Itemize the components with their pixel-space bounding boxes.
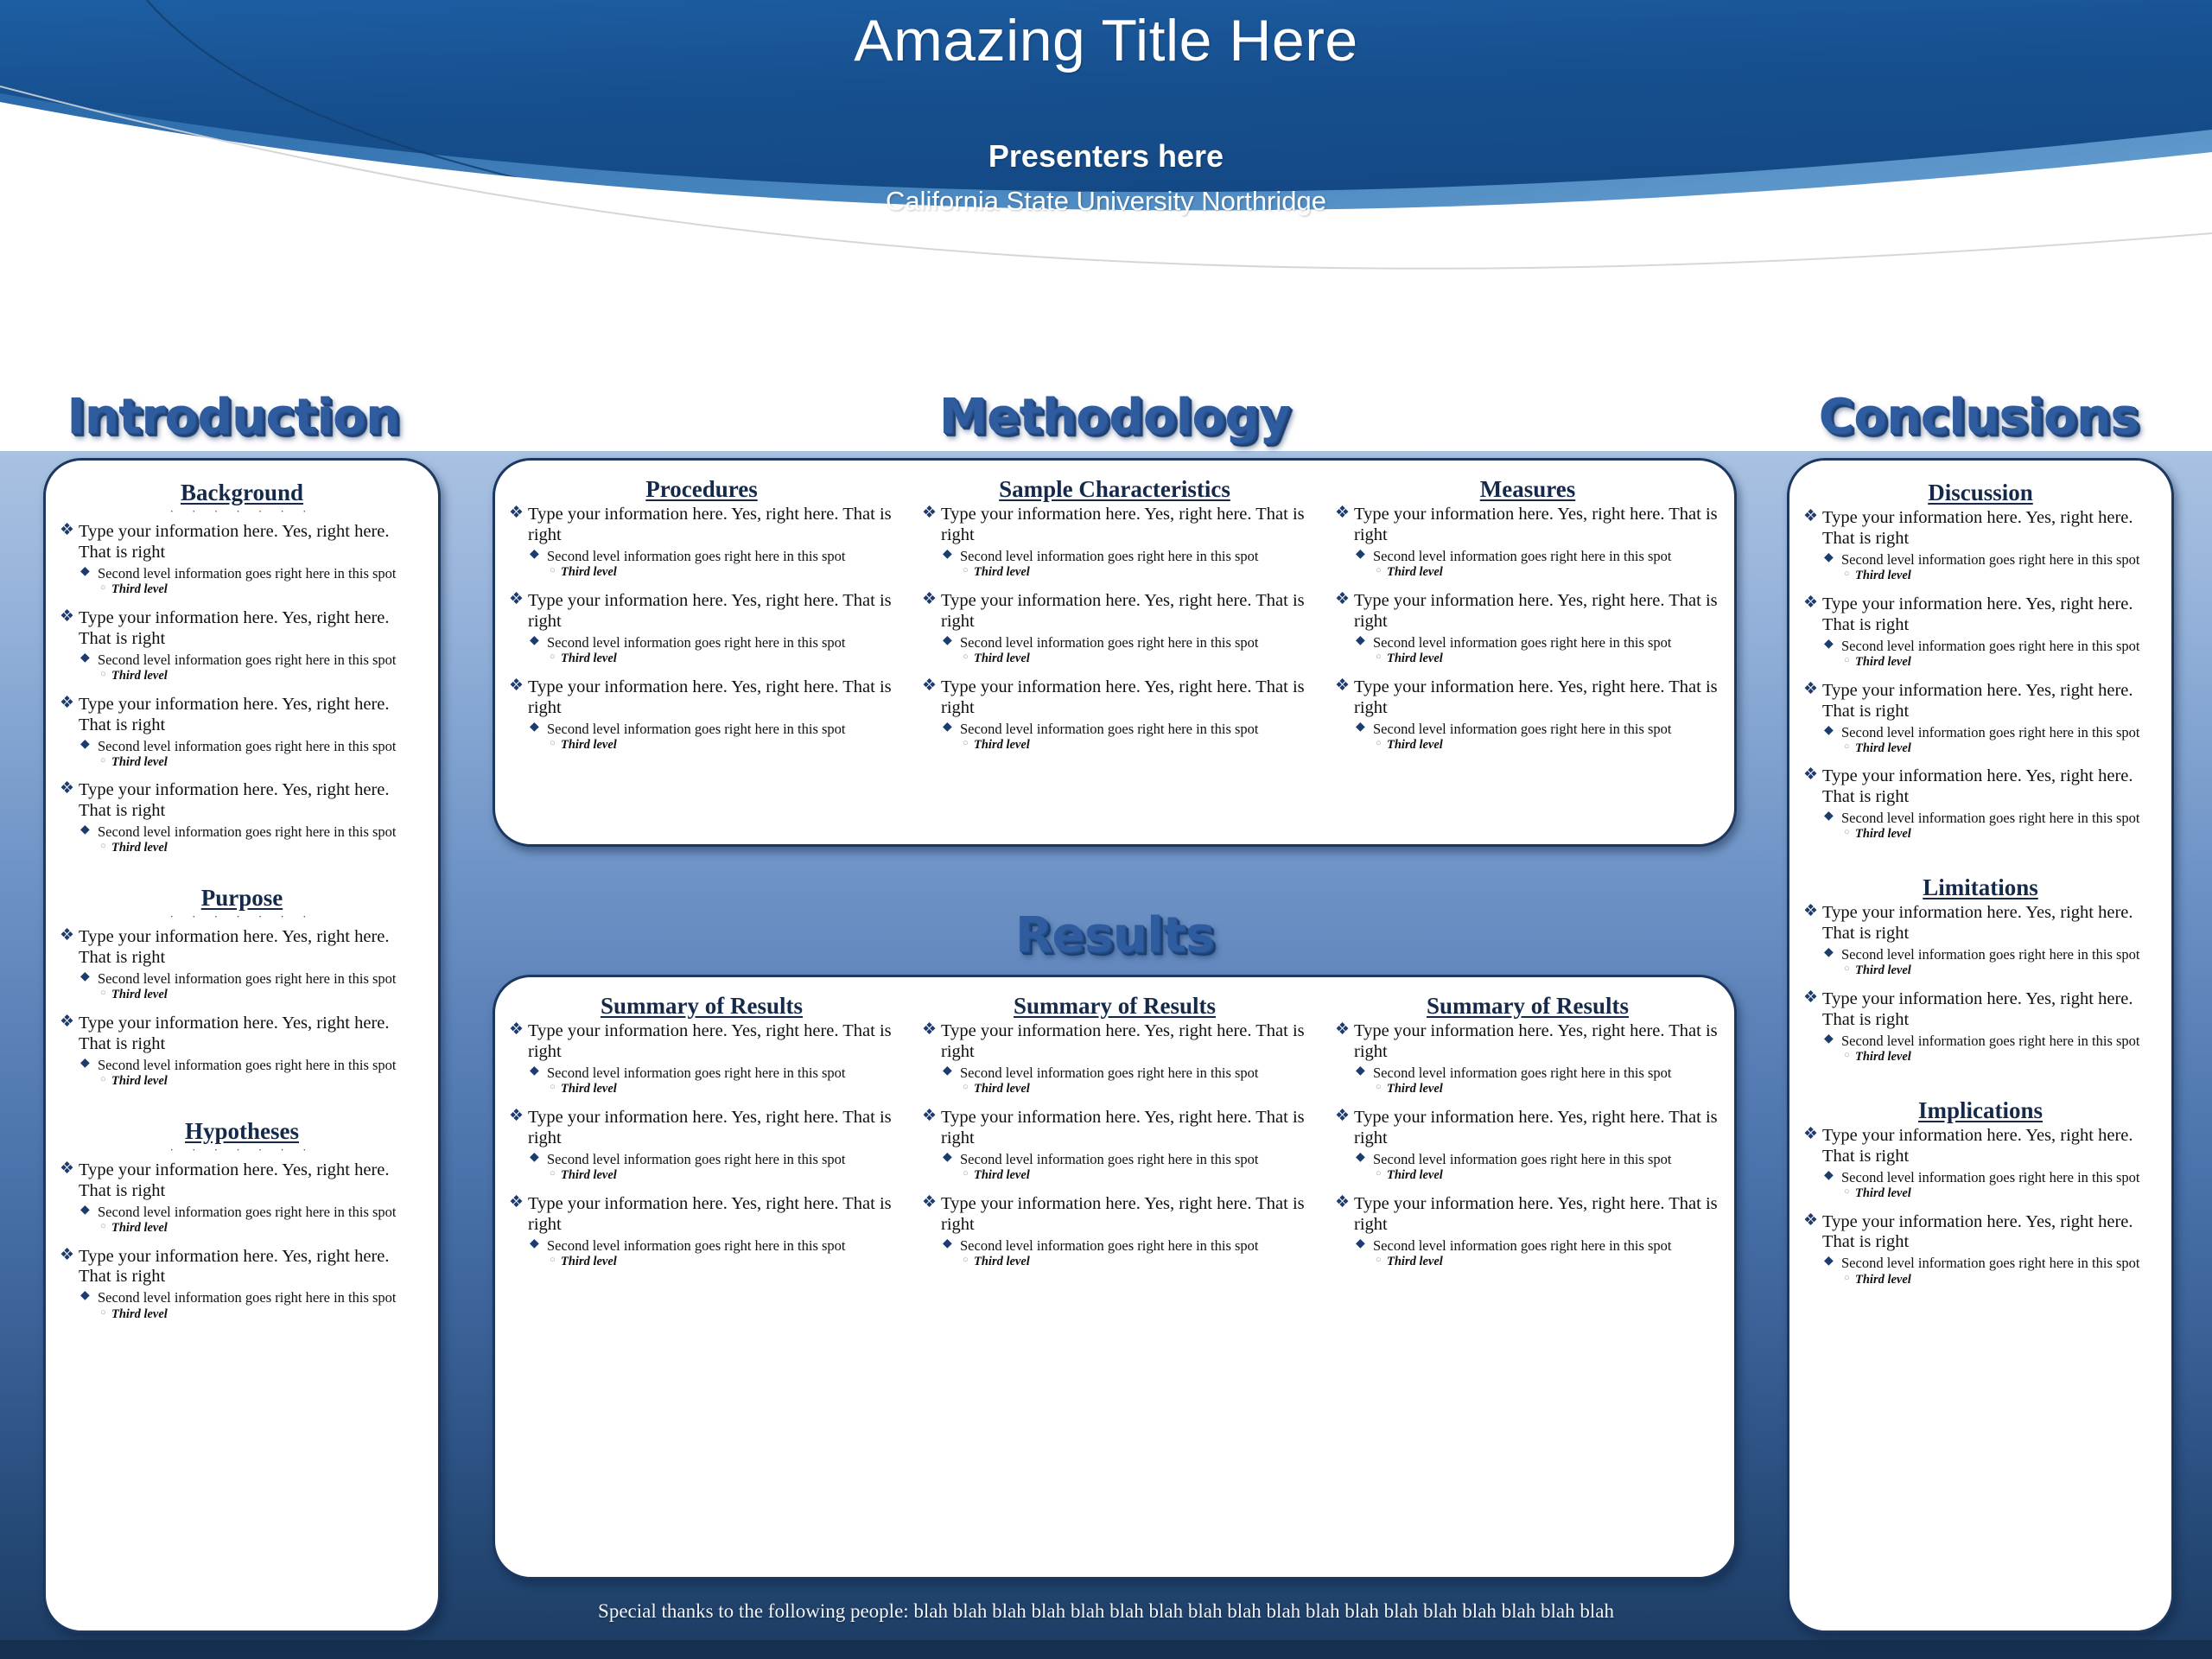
bullet-glyph-level-1: ❖ [1803, 507, 1818, 527]
bullet-level-1: ❖Type your information here. Yes, right … [509, 591, 894, 632]
bullet-level-1: ❖Type your information here. Yes, right … [922, 591, 1307, 632]
bullet-level-3-text: Third level [1855, 655, 1911, 669]
bullet-level-2: ◆Second level information goes right her… [1335, 634, 1720, 651]
bullet-level-3: ○Third level [1335, 1255, 1720, 1269]
bullet-glyph-level-2: ◆ [530, 1237, 539, 1251]
bullet-glyph-level-3: ○ [1844, 1273, 1850, 1284]
bullet-group-results-3: ❖Type your information here. Yes, right … [1335, 1021, 1720, 1268]
bullet-level-1-text: Type your information here. Yes, right h… [1354, 1108, 1718, 1147]
bullet-level-1: ❖Type your information here. Yes, right … [60, 1014, 424, 1055]
bullet-glyph-level-1: ❖ [1335, 677, 1350, 696]
bullet-glyph-level-2: ◆ [80, 970, 90, 984]
bullet-block: ❖Type your information here. Yes, right … [1335, 1021, 1720, 1096]
bullet-level-1-text: Type your information here. Yes, right h… [1822, 989, 2133, 1029]
bullet-level-3-text: Third level [111, 1221, 168, 1235]
bullet-level-3: ○Third level [1335, 565, 1720, 580]
bullet-level-1-text: Type your information here. Yes, right h… [79, 1247, 390, 1287]
bullet-level-1: ❖Type your information here. Yes, right … [60, 608, 424, 650]
bullet-level-3: ○Third level [60, 1307, 424, 1322]
bullet-level-1-text: Type your information here. Yes, right h… [528, 1021, 892, 1061]
bullet-level-1: ❖Type your information here. Yes, right … [1803, 903, 2158, 944]
bullet-glyph-level-2: ◆ [80, 1204, 90, 1217]
bullet-level-3-text: Third level [1855, 569, 1911, 582]
bullet-block: ❖Type your information here. Yes, right … [509, 1108, 894, 1183]
bullet-level-3: ○Third level [509, 652, 894, 666]
bullet-glyph-level-3: ○ [100, 755, 106, 766]
bullet-glyph-level-1: ❖ [60, 1246, 74, 1266]
bullet-level-1-text: Type your information here. Yes, right h… [1354, 591, 1718, 631]
bullet-level-3-text: Third level [1387, 1082, 1443, 1096]
bullet-level-1-text: Type your information here. Yes, right h… [1822, 1212, 2133, 1252]
bullet-level-3: ○Third level [1803, 1273, 2158, 1287]
bullet-glyph-level-3: ○ [550, 1255, 556, 1266]
bullet-block: ❖Type your information here. Yes, right … [509, 677, 894, 753]
bullet-level-3: ○Third level [60, 669, 424, 683]
bullet-level-1-text: Type your information here. Yes, right h… [79, 927, 390, 967]
page-title: Amazing Title Here [0, 9, 2212, 73]
bullet-level-2-text: Second level information goes right here… [1373, 548, 1672, 564]
bullet-level-1: ❖Type your information here. Yes, right … [1335, 1108, 1720, 1149]
bullet-glyph-level-3: ○ [550, 1168, 556, 1179]
procedures-column: Procedures ❖Type your information here. … [495, 461, 908, 844]
bullet-level-2-text: Second level information goes right here… [1373, 721, 1672, 737]
bullet-level-1: ❖Type your information here. Yes, right … [1803, 1212, 2158, 1254]
bullet-level-1: ❖Type your information here. Yes, right … [1803, 989, 2158, 1031]
bullet-glyph-level-2: ◆ [1824, 724, 1834, 738]
bullet-level-3: ○Third level [1803, 1186, 2158, 1201]
subheading-limitations: Limitations [1803, 874, 2158, 901]
bullet-level-1-text: Type your information here. Yes, right h… [528, 505, 892, 544]
bullet-block: ❖Type your information here. Yes, right … [1335, 677, 1720, 753]
bullet-level-2: ◆Second level information goes right her… [1803, 810, 2158, 826]
bullet-glyph-level-1: ❖ [1335, 504, 1350, 524]
bullet-group-sample-characteristics: ❖Type your information here. Yes, right … [922, 505, 1307, 752]
bullet-level-1: ❖Type your information here. Yes, right … [60, 1160, 424, 1202]
bullet-glyph-level-3: ○ [1844, 655, 1850, 666]
bullet-level-3-text: Third level [111, 1074, 168, 1088]
bullet-level-2-text: Second level information goes right here… [98, 652, 397, 668]
subheading-summary-of-results-2: Summary of Results [922, 993, 1307, 1020]
bullet-level-1-text: Type your information here. Yes, right h… [79, 1014, 390, 1053]
bullet-level-1-text: Type your information here. Yes, right h… [941, 677, 1305, 717]
bullet-block: ❖Type your information here. Yes, right … [60, 608, 424, 683]
bullet-level-3: ○Third level [60, 1074, 424, 1089]
bullet-group-implications: ❖Type your information here. Yes, right … [1803, 1126, 2158, 1287]
subheading-purpose: Purpose [60, 885, 424, 912]
bullet-level-2: ◆Second level information goes right her… [60, 1057, 424, 1073]
bullet-level-1: ❖Type your information here. Yes, right … [509, 505, 894, 546]
bullet-level-3-text: Third level [561, 652, 617, 665]
bullet-level-2: ◆Second level information goes right her… [922, 1151, 1307, 1167]
bullet-level-3: ○Third level [509, 1082, 894, 1096]
bullet-level-1: ❖Type your information here. Yes, right … [1803, 508, 2158, 550]
bullet-level-2-text: Second level information goes right here… [98, 565, 397, 582]
bullet-block: ❖Type your information here. Yes, right … [1335, 591, 1720, 666]
bullet-glyph-level-1: ❖ [1335, 1193, 1350, 1213]
bullet-glyph-level-3: ○ [1376, 1255, 1382, 1266]
bullet-level-3: ○Third level [60, 582, 424, 597]
bullet-glyph-level-1: ❖ [509, 590, 524, 610]
bullet-glyph-level-3: ○ [1844, 963, 1850, 975]
bullet-level-2-text: Second level information goes right here… [1841, 638, 2140, 654]
bullet-level-2: ◆Second level information goes right her… [60, 738, 424, 754]
sample-characteristics-column: Sample Characteristics ❖Type your inform… [908, 461, 1321, 844]
bullet-level-2-text: Second level information goes right here… [960, 721, 1259, 737]
bullet-glyph-level-2: ◆ [1356, 1151, 1365, 1165]
bullet-glyph-level-3: ○ [100, 1074, 106, 1085]
bullet-level-1: ❖Type your information here. Yes, right … [60, 780, 424, 822]
bullet-glyph-level-1: ❖ [922, 1107, 937, 1127]
bullet-level-3: ○Third level [509, 1255, 894, 1269]
bullet-level-2-text: Second level information goes right here… [960, 634, 1259, 651]
bullet-level-2: ◆Second level information goes right her… [509, 1151, 894, 1167]
bullet-level-3-text: Third level [1855, 827, 1911, 841]
bullet-level-3-text: Third level [974, 1082, 1030, 1096]
bullet-level-1: ❖Type your information here. Yes, right … [922, 1108, 1307, 1149]
bullet-level-3-text: Third level [1387, 565, 1443, 579]
bullet-level-3-text: Third level [111, 755, 168, 769]
bullet-level-3-text: Third level [111, 988, 168, 1001]
introduction-column: Background · · · · · · · ❖Type your info… [46, 461, 438, 1630]
bullet-glyph-level-2: ◆ [530, 1065, 539, 1078]
bullet-glyph-level-1: ❖ [1803, 594, 1818, 613]
bullet-glyph-level-3: ○ [550, 565, 556, 576]
bullet-level-2: ◆Second level information goes right her… [509, 1237, 894, 1254]
bullet-block: ❖Type your information here. Yes, right … [60, 1160, 424, 1236]
subheading-discussion: Discussion [1803, 480, 2158, 506]
bullet-level-3: ○Third level [1803, 655, 2158, 670]
bullet-group-background: ❖Type your information here. Yes, right … [60, 522, 424, 855]
bullet-level-3: ○Third level [1335, 1168, 1720, 1183]
bullet-block: ❖Type your information here. Yes, right … [60, 1014, 424, 1089]
bullet-glyph-level-2: ◆ [1824, 810, 1834, 823]
bullet-glyph-level-2: ◆ [943, 1237, 952, 1251]
bullet-glyph-level-1: ❖ [60, 1013, 74, 1033]
bullet-glyph-level-2: ◆ [80, 1057, 90, 1071]
affiliation-line: California State University Northridge [0, 187, 2212, 216]
bullet-level-3-text: Third level [561, 1255, 617, 1268]
bullet-level-1: ❖Type your information here. Yes, right … [922, 1021, 1307, 1063]
bullet-glyph-level-2: ◆ [1824, 638, 1834, 652]
bullet-level-3: ○Third level [1803, 827, 2158, 842]
bullet-level-1: ❖Type your information here. Yes, right … [1335, 677, 1720, 719]
bullet-level-1-text: Type your information here. Yes, right h… [1822, 508, 2133, 548]
bullet-glyph-level-2: ◆ [80, 1289, 90, 1303]
bullet-level-2: ◆Second level information goes right her… [1803, 1033, 2158, 1049]
bullet-level-2: ◆Second level information goes right her… [509, 721, 894, 737]
bullet-level-2: ◆Second level information goes right her… [922, 634, 1307, 651]
bullet-group-hypotheses: ❖Type your information here. Yes, right … [60, 1160, 424, 1322]
bullet-level-2-text: Second level information goes right here… [98, 1289, 397, 1306]
bullet-level-3-text: Third level [1387, 1255, 1443, 1268]
bullet-level-3: ○Third level [1335, 1082, 1720, 1096]
bullet-level-1: ❖Type your information here. Yes, right … [1335, 591, 1720, 632]
bullet-glyph-level-3: ○ [963, 738, 969, 749]
bullet-glyph-level-2: ◆ [80, 652, 90, 665]
bullet-glyph-level-1: ❖ [60, 926, 74, 946]
bullet-glyph-level-1: ❖ [922, 1193, 937, 1213]
bullet-glyph-level-3: ○ [100, 988, 106, 999]
bullet-level-2-text: Second level information goes right here… [98, 823, 397, 840]
bullet-level-2: ◆Second level information goes right her… [1803, 551, 2158, 568]
bullet-level-1-text: Type your information here. Yes, right h… [528, 1108, 892, 1147]
bullet-level-3-text: Third level [111, 841, 168, 855]
bullet-glyph-level-1: ❖ [922, 1020, 937, 1040]
bullet-glyph-level-1: ❖ [1803, 680, 1818, 700]
bullet-glyph-level-3: ○ [963, 565, 969, 576]
bullet-group-measures: ❖Type your information here. Yes, right … [1335, 505, 1720, 752]
bullet-glyph-level-3: ○ [1376, 1168, 1382, 1179]
bullet-block: ❖Type your information here. Yes, right … [922, 505, 1307, 580]
bullet-level-2-text: Second level information goes right here… [547, 721, 846, 737]
summary-of-results-column-3: Summary of Results ❖Type your informatio… [1321, 977, 1734, 1577]
bullet-level-3: ○Third level [922, 565, 1307, 580]
bullet-block: ❖Type your information here. Yes, right … [509, 591, 894, 666]
bullet-level-2: ◆Second level information goes right her… [922, 1065, 1307, 1081]
bullet-level-1-text: Type your information here. Yes, right h… [528, 677, 892, 717]
bullet-level-3: ○Third level [1803, 963, 2158, 978]
bullet-block: ❖Type your information here. Yes, right … [1803, 766, 2158, 842]
bottom-strip [0, 1640, 2212, 1659]
bullet-glyph-level-3: ○ [1376, 652, 1382, 663]
bullet-level-3-text: Third level [1387, 738, 1443, 752]
bullet-level-1-text: Type your information here. Yes, right h… [941, 591, 1305, 631]
presenters-line: Presenters here [0, 139, 2212, 174]
bullet-glyph-level-1: ❖ [60, 779, 74, 799]
bullet-level-3-text: Third level [1387, 1168, 1443, 1182]
bullet-block: ❖Type your information here. Yes, right … [1335, 505, 1720, 580]
bullet-level-3: ○Third level [1803, 741, 2158, 756]
bullet-level-1: ❖Type your information here. Yes, right … [509, 1021, 894, 1063]
bullet-glyph-level-1: ❖ [509, 504, 524, 524]
bullet-level-2-text: Second level information goes right here… [960, 1151, 1259, 1167]
measures-column: Measures ❖Type your information here. Ye… [1321, 461, 1734, 844]
bullet-level-3-text: Third level [561, 738, 617, 752]
bullet-level-2-text: Second level information goes right here… [1841, 724, 2140, 741]
bullet-level-2: ◆Second level information goes right her… [922, 1237, 1307, 1254]
bullet-level-1-text: Type your information here. Yes, right h… [79, 1160, 390, 1200]
bullet-level-3-text: Third level [974, 652, 1030, 665]
bullet-glyph-level-3: ○ [1376, 565, 1382, 576]
bullet-level-1-text: Type your information here. Yes, right h… [1822, 766, 2133, 806]
bullet-level-2-text: Second level information goes right here… [1841, 1033, 2140, 1049]
conclusions-column: Discussion ❖Type your information here. … [1789, 461, 2171, 1630]
bullet-glyph-level-2: ◆ [80, 823, 90, 837]
bullet-block: ❖Type your information here. Yes, right … [60, 695, 424, 770]
decorative-dot-row: · · · · · · · [60, 913, 424, 924]
bullet-level-1-text: Type your information here. Yes, right h… [1822, 903, 2133, 943]
bullet-level-1-text: Type your information here. Yes, right h… [1354, 677, 1718, 717]
bullet-level-1-text: Type your information here. Yes, right h… [1354, 505, 1718, 544]
bullet-block: ❖Type your information here. Yes, right … [60, 1247, 424, 1322]
bullet-glyph-level-2: ◆ [1356, 1065, 1365, 1078]
bullet-level-1-text: Type your information here. Yes, right h… [79, 780, 390, 820]
bullet-level-1-text: Type your information here. Yes, right h… [528, 1194, 892, 1234]
bullet-level-3-text: Third level [561, 1168, 617, 1182]
bullet-glyph-level-2: ◆ [1356, 1237, 1365, 1251]
bullet-level-2-text: Second level information goes right here… [98, 1057, 397, 1073]
bullet-block: ❖Type your information here. Yes, right … [509, 1194, 894, 1269]
bullet-level-3-text: Third level [974, 565, 1030, 579]
bullet-level-3-text: Third level [561, 1082, 617, 1096]
bullet-level-3: ○Third level [509, 565, 894, 580]
bullet-glyph-level-3: ○ [1844, 1186, 1850, 1198]
bullet-group-purpose: ❖Type your information here. Yes, right … [60, 927, 424, 1089]
bullet-glyph-level-3: ○ [1844, 1050, 1850, 1061]
bullet-level-2: ◆Second level information goes right her… [60, 1204, 424, 1220]
bullet-level-1: ❖Type your information here. Yes, right … [1803, 766, 2158, 808]
bullet-level-1: ❖Type your information here. Yes, right … [922, 677, 1307, 719]
bullet-level-3-text: Third level [974, 738, 1030, 752]
bullet-level-2-text: Second level information goes right here… [1841, 551, 2140, 568]
header-text-group: Amazing Title Here Presenters here Calif… [0, 0, 2212, 216]
bullet-level-2: ◆Second level information goes right her… [1335, 548, 1720, 564]
bullet-level-2: ◆Second level information goes right her… [1803, 724, 2158, 741]
bullet-level-3-text: Third level [111, 1307, 168, 1321]
section-heading-results: Results [493, 907, 1737, 963]
bullet-glyph-level-3: ○ [1844, 741, 1850, 753]
bullet-glyph-level-1: ❖ [60, 607, 74, 627]
bullet-glyph-level-3: ○ [963, 1168, 969, 1179]
bullet-level-3: ○Third level [509, 738, 894, 753]
bullet-level-1: ❖Type your information here. Yes, right … [509, 1108, 894, 1149]
bullet-level-1-text: Type your information here. Yes, right h… [941, 1021, 1305, 1061]
bullet-level-2: ◆Second level information goes right her… [509, 548, 894, 564]
bullet-glyph-level-3: ○ [550, 738, 556, 749]
bullet-level-3: ○Third level [1335, 652, 1720, 666]
bullet-level-2: ◆Second level information goes right her… [60, 565, 424, 582]
bullet-block: ❖Type your information here. Yes, right … [60, 780, 424, 855]
bullet-glyph-level-1: ❖ [509, 677, 524, 696]
bullet-glyph-level-1: ❖ [1335, 1020, 1350, 1040]
bullet-glyph-level-2: ◆ [530, 721, 539, 734]
methodology-card: Procedures ❖Type your information here. … [493, 458, 1737, 847]
bullet-level-1: ❖Type your information here. Yes, right … [60, 695, 424, 736]
bullet-level-3: ○Third level [922, 652, 1307, 666]
bullet-block: ❖Type your information here. Yes, right … [922, 677, 1307, 753]
bullet-level-3: ○Third level [60, 755, 424, 770]
bullet-level-2-text: Second level information goes right here… [1841, 946, 2140, 963]
bullet-level-1-text: Type your information here. Yes, right h… [941, 505, 1305, 544]
bullet-level-1-text: Type your information here. Yes, right h… [528, 591, 892, 631]
decorative-dot-row: · · · · · · · [60, 1147, 424, 1157]
bullet-block: ❖Type your information here. Yes, right … [60, 927, 424, 1002]
bullet-level-3: ○Third level [1803, 569, 2158, 583]
bullet-level-2: ◆Second level information goes right her… [922, 721, 1307, 737]
bullet-level-2: ◆Second level information goes right her… [1335, 1151, 1720, 1167]
bullet-glyph-level-1: ❖ [509, 1020, 524, 1040]
bullet-glyph-level-3: ○ [100, 669, 106, 680]
bullet-glyph-level-1: ❖ [1803, 988, 1818, 1008]
bullet-glyph-level-2: ◆ [1824, 1255, 1834, 1268]
bullet-block: ❖Type your information here. Yes, right … [1803, 508, 2158, 583]
bullet-level-1: ❖Type your information here. Yes, right … [1803, 1126, 2158, 1167]
bullet-glyph-level-1: ❖ [60, 694, 74, 714]
bullet-level-2-text: Second level information goes right here… [1373, 634, 1672, 651]
bullet-glyph-level-1: ❖ [922, 677, 937, 696]
bullet-level-1: ❖Type your information here. Yes, right … [1335, 505, 1720, 546]
bullet-glyph-level-2: ◆ [1824, 551, 1834, 565]
bullet-glyph-level-3: ○ [100, 1307, 106, 1319]
bullet-block: ❖Type your information here. Yes, right … [1803, 681, 2158, 756]
bullet-level-3: ○Third level [60, 1221, 424, 1236]
bullet-level-1: ❖Type your information here. Yes, right … [509, 677, 894, 719]
bullet-glyph-level-2: ◆ [1356, 634, 1365, 648]
bullet-level-2-text: Second level information goes right here… [1841, 810, 2140, 826]
bullet-level-1-text: Type your information here. Yes, right h… [79, 695, 390, 734]
decorative-dot-row: · · · · · · · [60, 508, 424, 518]
bullet-block: ❖Type your information here. Yes, right … [1803, 594, 2158, 670]
bullet-glyph-level-2: ◆ [1356, 721, 1365, 734]
bullet-level-1: ❖Type your information here. Yes, right … [922, 1194, 1307, 1236]
bullet-level-2: ◆Second level information goes right her… [922, 548, 1307, 564]
bullet-level-1-text: Type your information here. Yes, right h… [1822, 594, 2133, 634]
bullet-glyph-level-3: ○ [550, 1082, 556, 1093]
bullet-level-2-text: Second level information goes right here… [547, 634, 846, 651]
bullet-glyph-level-3: ○ [550, 652, 556, 663]
bullet-glyph-level-3: ○ [963, 652, 969, 663]
bullet-level-2-text: Second level information goes right here… [98, 1204, 397, 1220]
bullet-block: ❖Type your information here. Yes, right … [1335, 1108, 1720, 1183]
bullet-level-2-text: Second level information goes right here… [547, 1151, 846, 1167]
bullet-glyph-level-1: ❖ [1803, 766, 1818, 785]
bullet-level-2: ◆Second level information goes right her… [60, 823, 424, 840]
bullet-level-3: ○Third level [60, 988, 424, 1002]
bullet-level-1-text: Type your information here. Yes, right h… [1822, 1126, 2133, 1166]
bullet-block: ❖Type your information here. Yes, right … [60, 522, 424, 597]
bullet-block: ❖Type your information here. Yes, right … [1803, 1126, 2158, 1201]
bullet-level-3-text: Third level [1855, 1186, 1911, 1200]
bullet-level-3-text: Third level [1855, 1050, 1911, 1064]
bullet-glyph-level-2: ◆ [943, 634, 952, 648]
bullet-glyph-level-3: ○ [1376, 738, 1382, 749]
bullet-glyph-level-3: ○ [963, 1255, 969, 1266]
bullet-level-3-text: Third level [974, 1255, 1030, 1268]
bullet-group-procedures: ❖Type your information here. Yes, right … [509, 505, 894, 752]
bullet-glyph-level-3: ○ [100, 1221, 106, 1232]
bullet-group-limitations: ❖Type your information here. Yes, right … [1803, 903, 2158, 1065]
bullet-glyph-level-1: ❖ [509, 1193, 524, 1213]
bullet-glyph-level-2: ◆ [530, 548, 539, 562]
bullet-level-2-text: Second level information goes right here… [1373, 1065, 1672, 1081]
bullet-level-2: ◆Second level information goes right her… [1803, 638, 2158, 654]
bullet-level-3: ○Third level [1335, 738, 1720, 753]
bullet-level-2-text: Second level information goes right here… [547, 1065, 846, 1081]
bullet-level-2-text: Second level information goes right here… [98, 970, 397, 987]
bullet-level-2: ◆Second level information goes right her… [509, 1065, 894, 1081]
bullet-glyph-level-1: ❖ [922, 504, 937, 524]
bullet-glyph-level-3: ○ [963, 1082, 969, 1093]
bullet-level-2: ◆Second level information goes right her… [60, 970, 424, 987]
subheading-hypotheses: Hypotheses [60, 1118, 424, 1145]
bullet-glyph-level-2: ◆ [530, 1151, 539, 1165]
section-heading-conclusions: Conclusions [1780, 389, 2177, 445]
subheading-summary-of-results-1: Summary of Results [509, 993, 894, 1020]
bullet-glyph-level-2: ◆ [1356, 548, 1365, 562]
bullet-level-2: ◆Second level information goes right her… [1803, 1255, 2158, 1271]
summary-of-results-column-2: Summary of Results ❖Type your informatio… [908, 977, 1321, 1577]
bullet-block: ❖Type your information here. Yes, right … [1335, 1194, 1720, 1269]
bullet-glyph-level-2: ◆ [943, 1151, 952, 1165]
bullet-level-3-text: Third level [974, 1168, 1030, 1182]
bullet-level-2: ◆Second level information goes right her… [1335, 1237, 1720, 1254]
bullet-block: ❖Type your information here. Yes, right … [922, 1021, 1307, 1096]
bullet-block: ❖Type your information here. Yes, right … [922, 1108, 1307, 1183]
bullet-level-2-text: Second level information goes right here… [547, 548, 846, 564]
acknowledgements-text: Special thanks to the following people: … [0, 1600, 2212, 1623]
bullet-block: ❖Type your information here. Yes, right … [922, 591, 1307, 666]
bullet-level-1: ❖Type your information here. Yes, right … [60, 1247, 424, 1288]
